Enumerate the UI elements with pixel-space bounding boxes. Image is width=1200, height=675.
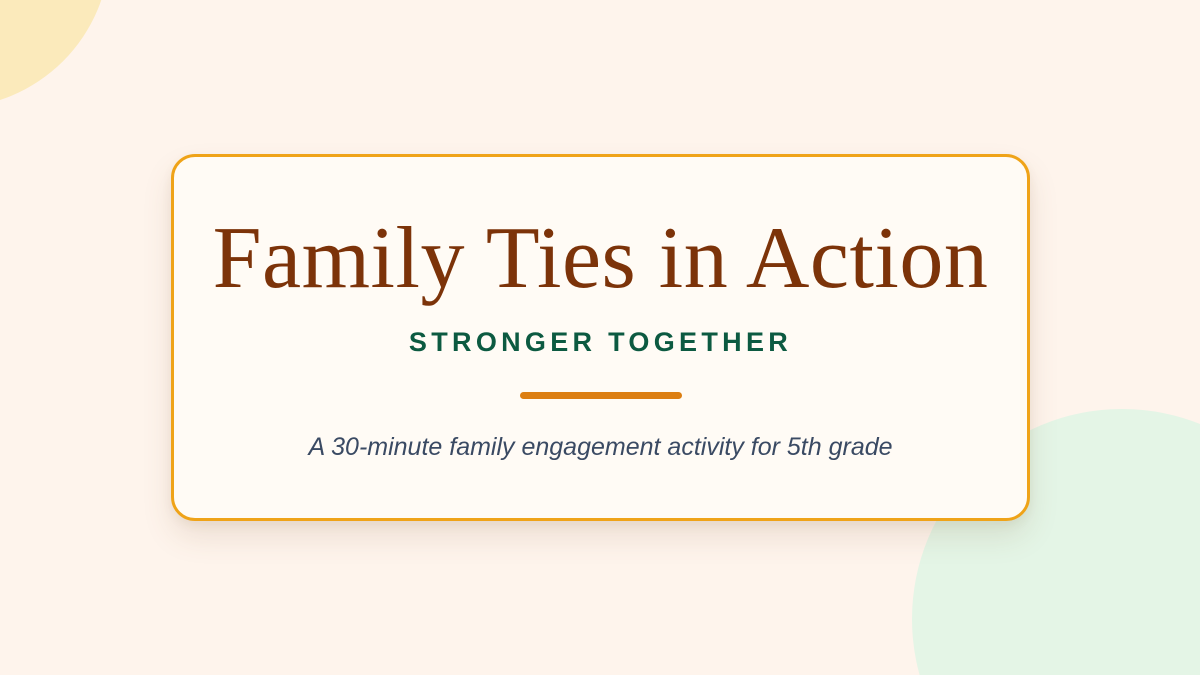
slide-subtitle: STRONGER TOGETHER [409,329,792,356]
title-card-content: Family Ties in Action STRONGER TOGETHER … [174,157,1027,462]
decorative-circle-top-left-icon [0,0,110,108]
slide-description: A 30-minute family engagement activity f… [308,432,892,462]
presentation-slide: Family Ties in Action STRONGER TOGETHER … [0,0,1200,675]
title-card: Family Ties in Action STRONGER TOGETHER … [171,154,1030,521]
slide-title: Family Ties in Action [213,215,989,303]
divider-rule [520,392,682,399]
